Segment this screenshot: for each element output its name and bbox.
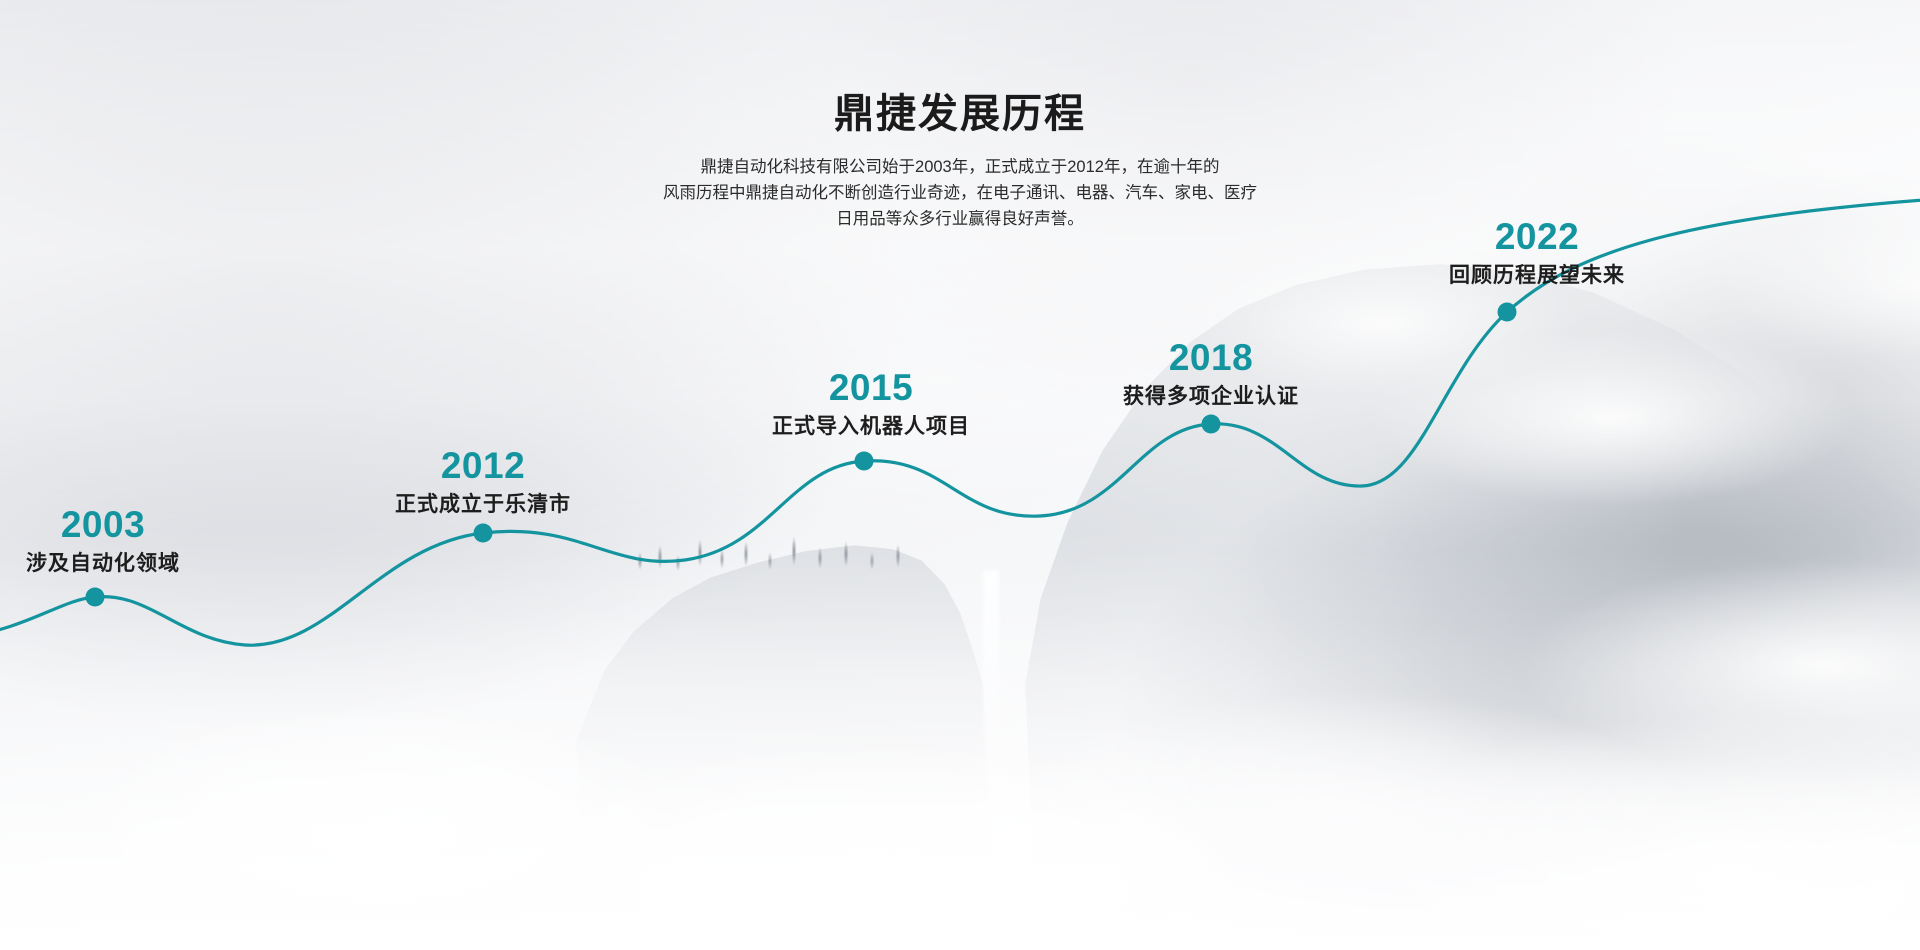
timeline-dot-2022[interactable] bbox=[1498, 303, 1517, 322]
milestone-year-2018: 2018 bbox=[1123, 339, 1299, 378]
intro-paragraph: 鼎捷自动化科技有限公司始于2003年，正式成立于2012年，在逾十年的 风雨历程… bbox=[0, 154, 1920, 232]
milestone-caption-2015: 正式导入机器人项目 bbox=[772, 414, 970, 439]
milestone-caption-2018: 获得多项企业认证 bbox=[1123, 384, 1299, 409]
milestone-2022[interactable]: 2022 回顾历程展望未来 bbox=[1449, 218, 1625, 288]
page-title: 鼎捷发展历程 bbox=[0, 92, 1920, 136]
milestone-2018[interactable]: 2018 获得多项企业认证 bbox=[1123, 339, 1299, 409]
milestone-2003[interactable]: 2003 涉及自动化领域 bbox=[26, 506, 180, 576]
header: 鼎捷发展历程 鼎捷自动化科技有限公司始于2003年，正式成立于2012年，在逾十… bbox=[0, 92, 1920, 232]
milestone-caption-2003: 涉及自动化领域 bbox=[26, 551, 180, 576]
milestone-year-2015: 2015 bbox=[772, 369, 970, 408]
timeline-infographic: 鼎捷发展历程 鼎捷自动化科技有限公司始于2003年，正式成立于2012年，在逾十… bbox=[0, 0, 1920, 950]
milestone-caption-2022: 回顾历程展望未来 bbox=[1449, 263, 1625, 288]
intro-line-2: 风雨历程中鼎捷自动化不断创造行业奇迹，在电子通讯、电器、汽车、家电、医疗 bbox=[0, 180, 1920, 206]
milestone-year-2022: 2022 bbox=[1449, 218, 1625, 257]
intro-line-1: 鼎捷自动化科技有限公司始于2003年，正式成立于2012年，在逾十年的 bbox=[0, 154, 1920, 180]
milestone-2012[interactable]: 2012 正式成立于乐清市 bbox=[395, 447, 571, 517]
timeline-dot-2018[interactable] bbox=[1202, 415, 1221, 434]
milestone-year-2012: 2012 bbox=[395, 447, 571, 486]
milestone-caption-2012: 正式成立于乐清市 bbox=[395, 492, 571, 517]
timeline-dot-2015[interactable] bbox=[855, 452, 874, 471]
timeline-dots bbox=[86, 303, 1517, 607]
milestone-year-2003: 2003 bbox=[26, 506, 180, 545]
timeline-dot-2003[interactable] bbox=[86, 588, 105, 607]
milestone-2015[interactable]: 2015 正式导入机器人项目 bbox=[772, 369, 970, 439]
timeline-dot-2012[interactable] bbox=[474, 524, 493, 543]
intro-line-3: 日用品等众多行业赢得良好声誉。 bbox=[0, 206, 1920, 232]
